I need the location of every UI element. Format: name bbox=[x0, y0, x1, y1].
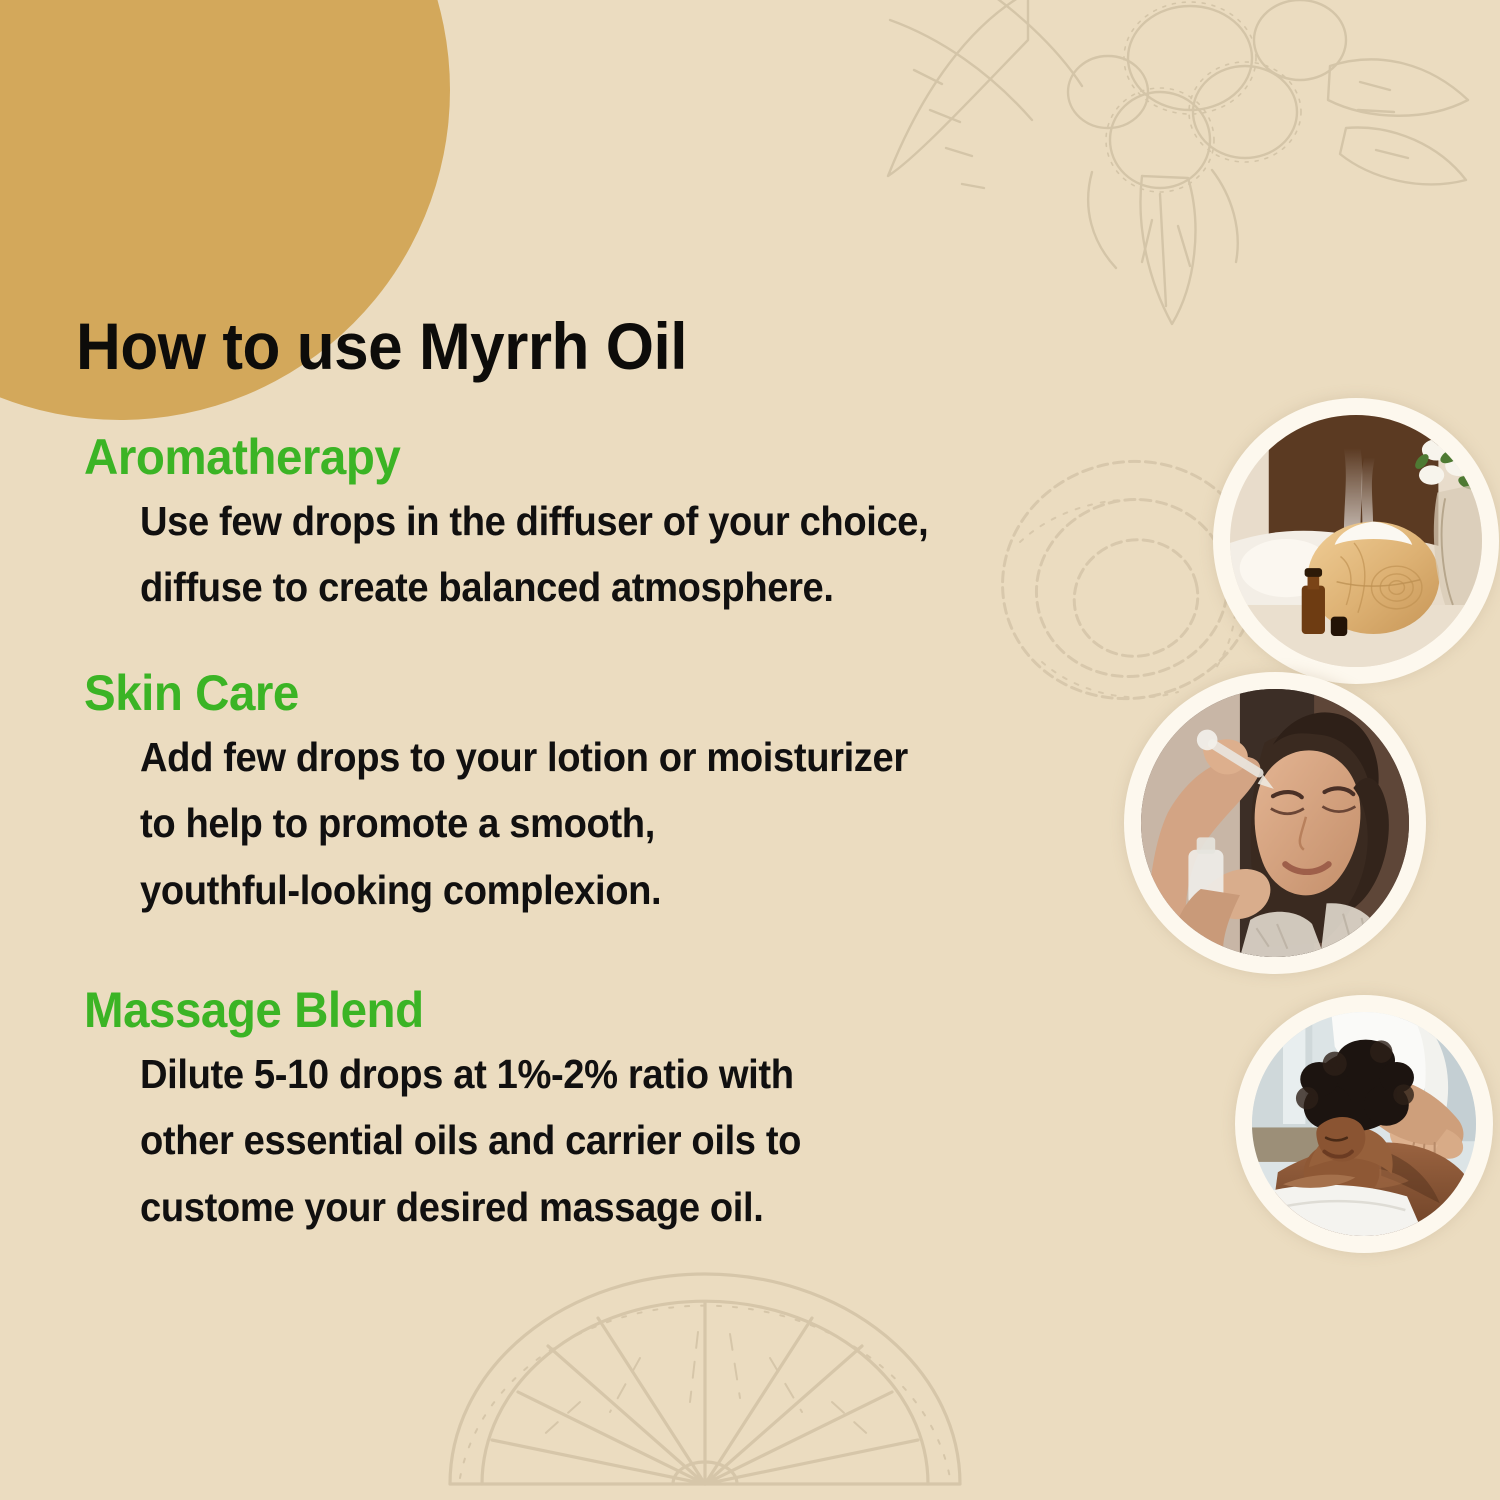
page-title: How to use Myrrh Oil bbox=[76, 308, 687, 384]
photo-diffuser-image bbox=[1230, 415, 1482, 667]
infographic-canvas: How to use Myrrh Oil Aromatherapy Use fe… bbox=[0, 0, 1500, 1500]
body-line: diffuse to create balanced atmosphere. bbox=[140, 554, 928, 620]
body-line: custome your desired massage oil. bbox=[140, 1174, 801, 1240]
photo-diffuser bbox=[1213, 398, 1499, 684]
botanical-berries-watermark-icon bbox=[860, 0, 1500, 410]
section-heading-skin-care: Skin Care bbox=[84, 668, 922, 718]
photo-serum-dropper-image bbox=[1141, 689, 1409, 957]
section-skin-care: Skin Care Add few drops to your lotion o… bbox=[84, 668, 966, 923]
body-line: Add few drops to your lotion or moisturi… bbox=[140, 724, 908, 790]
section-heading-aromatherapy: Aromatherapy bbox=[84, 432, 943, 482]
body-line: youthful-looking complexion. bbox=[140, 857, 908, 923]
section-body-aromatherapy: Use few drops in the diffuser of your ch… bbox=[84, 488, 988, 621]
body-line: Dilute 5-10 drops at 1%-2% ratio with bbox=[140, 1041, 801, 1107]
section-massage-blend: Massage Blend Dilute 5-10 drops at 1%-2%… bbox=[84, 985, 851, 1240]
citrus-slice-watermark-icon bbox=[440, 1272, 970, 1500]
section-heading-massage-blend: Massage Blend bbox=[84, 985, 813, 1035]
body-line: to help to promote a smooth, bbox=[140, 790, 908, 856]
photo-back-massage bbox=[1235, 995, 1493, 1253]
photo-back-massage-image bbox=[1252, 1012, 1476, 1236]
body-line: Use few drops in the diffuser of your ch… bbox=[140, 488, 928, 554]
section-aromatherapy: Aromatherapy Use few drops in the diffus… bbox=[84, 432, 988, 621]
section-body-massage-blend: Dilute 5-10 drops at 1%-2% ratio with ot… bbox=[84, 1041, 851, 1240]
photo-serum-dropper bbox=[1124, 672, 1426, 974]
section-body-skin-care: Add few drops to your lotion or moisturi… bbox=[84, 724, 966, 923]
body-line: other essential oils and carrier oils to bbox=[140, 1107, 801, 1173]
